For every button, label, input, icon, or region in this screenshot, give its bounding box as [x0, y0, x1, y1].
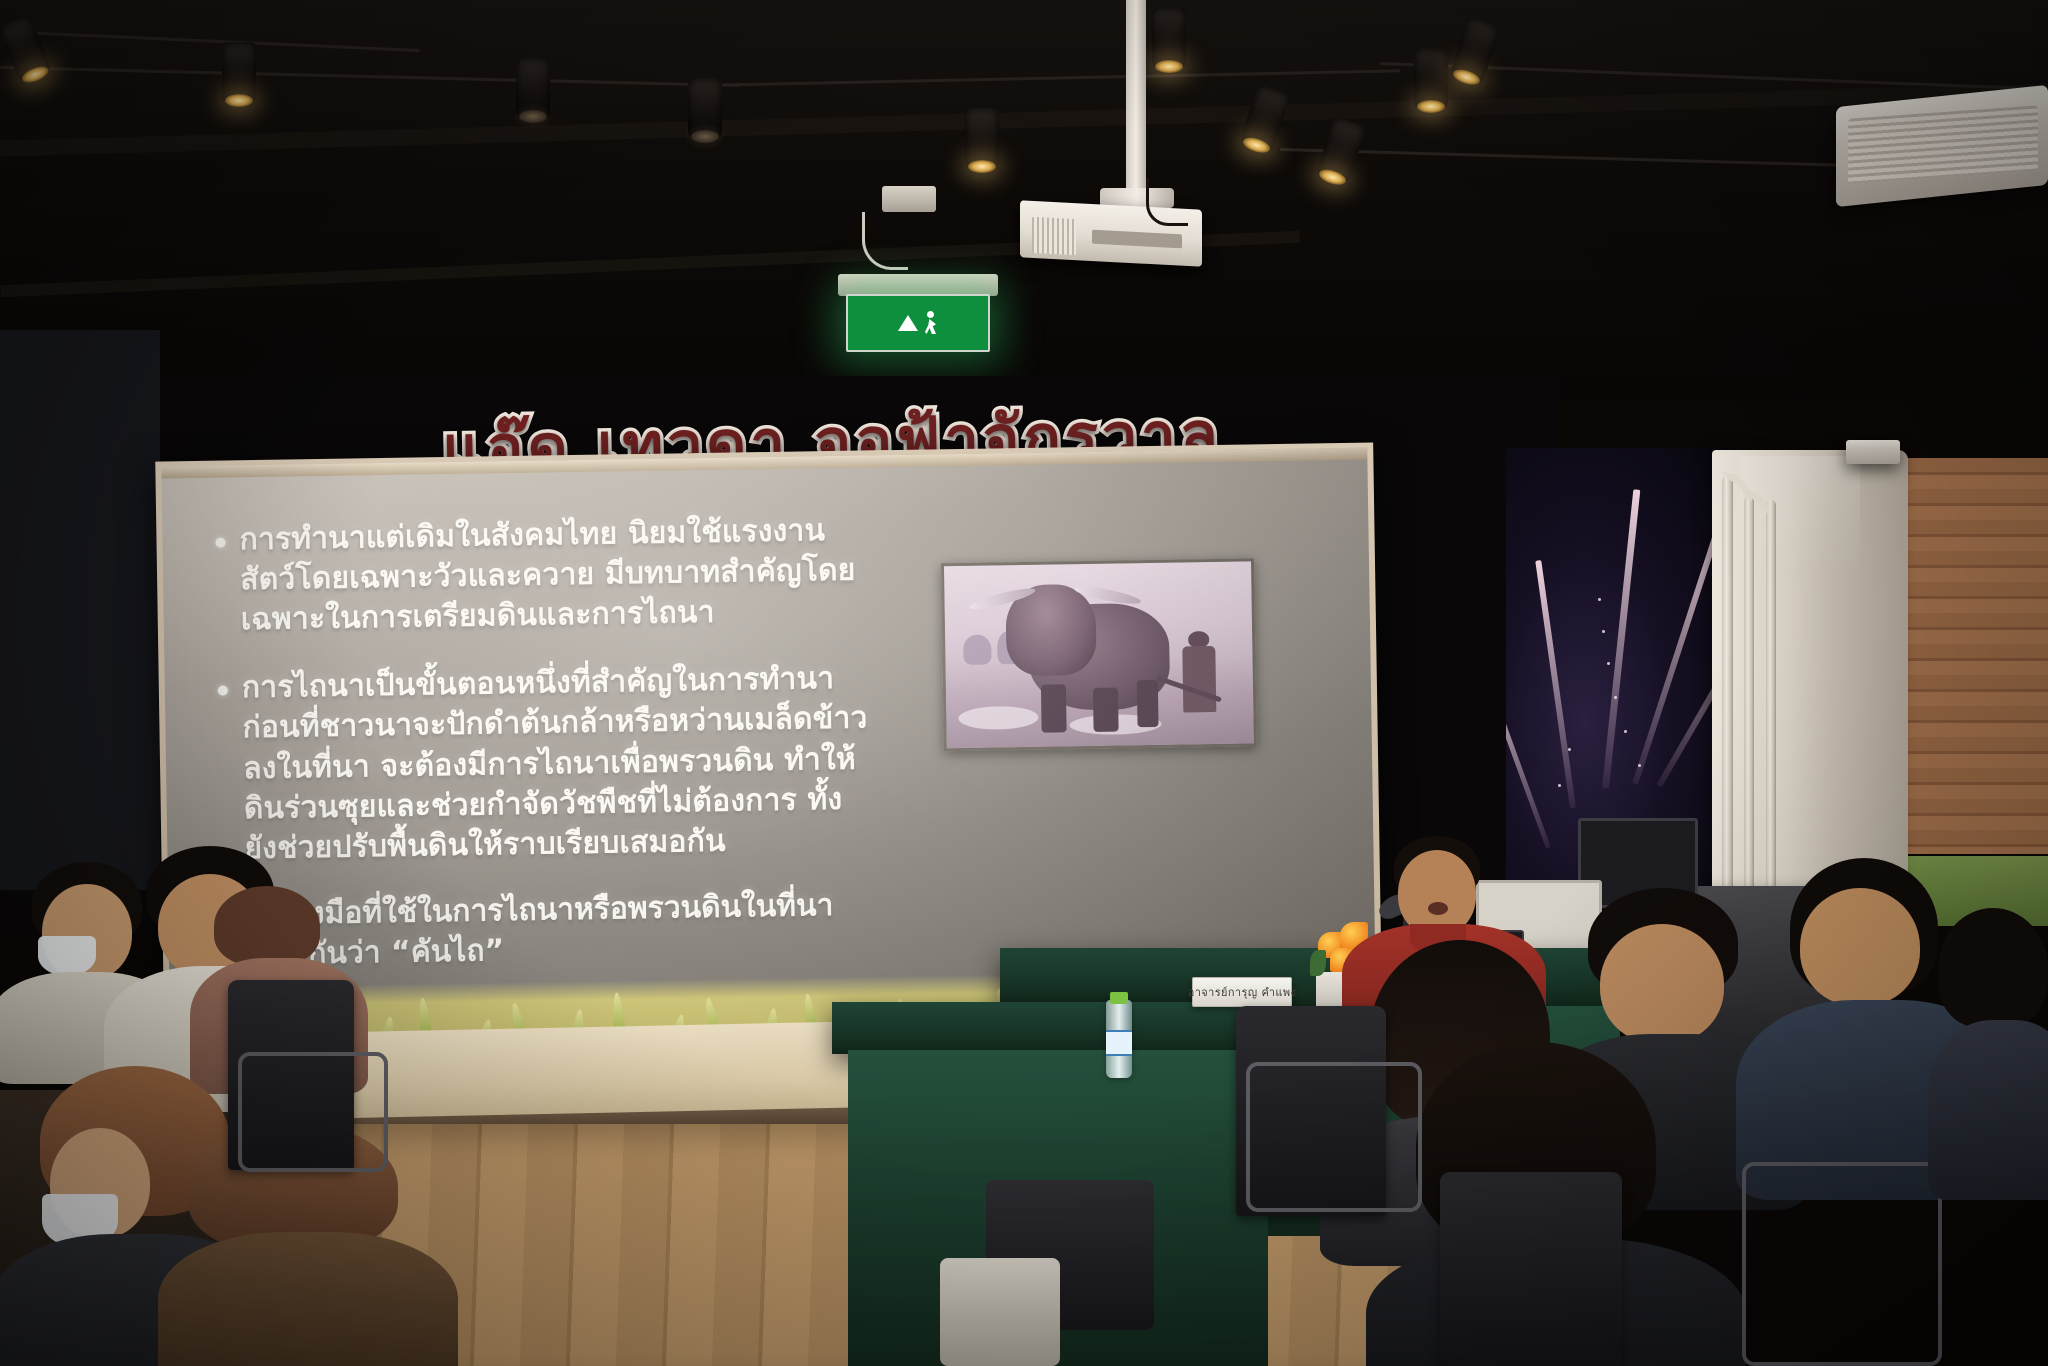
exit-sign-housing: [838, 274, 998, 296]
bullet-dot-icon: [218, 686, 228, 696]
track-light: [516, 58, 550, 120]
head-table-front: [832, 1002, 1272, 1054]
pillar-highlight: [1740, 456, 1860, 576]
chair-frame: [238, 1052, 388, 1172]
flower-leaf: [1310, 950, 1326, 976]
wood-panel-wall: [1900, 458, 2048, 854]
bottle-cap: [1110, 992, 1128, 1004]
audience-torso: [1928, 1020, 2048, 1200]
slide-bullet: การไถนาเป็นขั้นตอนหนึ่งที่สำคัญในการทำนา…: [218, 656, 1037, 870]
audience-torso: [158, 1232, 458, 1366]
decor-dot: [1614, 696, 1617, 699]
audience-head: [1800, 888, 1920, 1006]
audience-hair: [214, 886, 320, 966]
air-conditioner-grill: [1848, 105, 2038, 184]
exit-sign-ceiling-cap: [882, 186, 936, 212]
speaker-nameplate: อาจารย์การุญ คำแพง: [1192, 977, 1292, 1007]
face-mask: [38, 936, 96, 976]
track-light: [1414, 48, 1448, 110]
buffalo-leg: [1093, 688, 1118, 732]
slide-bullet-text: การทำนาแต่เดิมในสังคมไทย นิยมใช้แรงงาน ส…: [239, 510, 856, 640]
speaker-mouth: [1428, 902, 1448, 915]
speaker-nameplate-text: อาจารย์การุญ คำแพง: [1188, 983, 1297, 1001]
wall-pipe: [1722, 476, 1733, 902]
wall-pipe: [1766, 500, 1776, 902]
buffalo-leg: [1041, 685, 1066, 733]
lecture-hall-photo: แอ๊ด เทวดา จอฟ้าจักรวาล: [0, 0, 2048, 1366]
chair-frame: [1246, 1062, 1422, 1212]
decor-dot: [1624, 730, 1627, 733]
bottle-label: [1106, 1030, 1132, 1056]
decor-dot: [1602, 630, 1605, 633]
photo-tree: [963, 635, 991, 665]
bullet-dot-icon: [216, 537, 226, 547]
projector-mount-pole: [1126, 0, 1146, 196]
pillar-top-box: [1846, 440, 1900, 464]
decor-dot: [1598, 598, 1601, 601]
projector-vent: [1032, 217, 1076, 255]
track-light: [688, 78, 722, 140]
audience-chair[interactable]: [1440, 1172, 1622, 1366]
decor-dot: [1568, 748, 1571, 751]
track-light: [965, 108, 999, 170]
buffalo-leg: [1136, 680, 1158, 728]
audience-hair: [1938, 908, 2048, 1028]
audience-head: [1600, 924, 1724, 1044]
chair-frame: [1742, 1162, 1942, 1366]
back-wall-left: [0, 330, 160, 890]
audience-member: [1938, 908, 2048, 1188]
slide-line: เฉพาะในการเตรียมดินและการไถนา: [241, 591, 857, 641]
track-light: [1152, 8, 1186, 70]
exit-arrow-icon: [898, 315, 918, 331]
wall-pipe: [1744, 496, 1754, 902]
farmer-body: [1182, 646, 1217, 712]
track-light: [222, 42, 256, 104]
slide-line: ยังช่วยปรับพื้นดินให้ราบเรียบเสมอกัน: [244, 819, 870, 869]
decor-ray: [1535, 560, 1576, 808]
decor-ray: [1506, 650, 1551, 849]
exit-sign: [846, 294, 990, 352]
buffalo-plowing-photo: [941, 559, 1257, 752]
exit-running-person-icon: [924, 311, 938, 335]
decor-dot: [1638, 764, 1641, 767]
decor-ray: [1602, 489, 1640, 788]
slide-bullet-text: การไถนาเป็นขั้นตอนหนึ่งที่สำคัญในการทำนา…: [242, 659, 870, 870]
decor-dot: [1558, 784, 1561, 787]
projector-cable: [1146, 178, 1188, 226]
backpack: [940, 1258, 1060, 1366]
decor-dot: [1607, 662, 1610, 665]
